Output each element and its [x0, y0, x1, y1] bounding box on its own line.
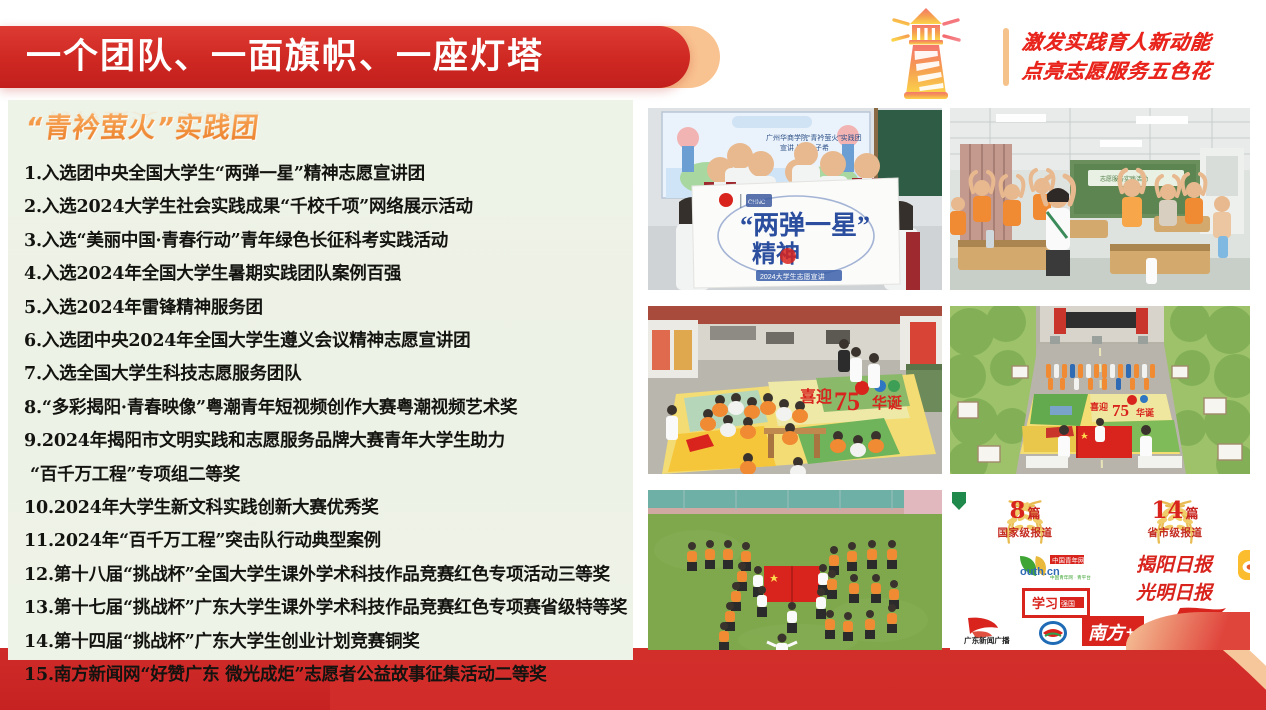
panel-title-wrap: “青衿萤火”实践团 “青衿萤火”实践团	[8, 100, 633, 158]
svg-text:学习: 学习	[1032, 596, 1058, 611]
logo-youth-cn: 中国青年网 outh.cn 中国青年网 · 青平台	[1016, 552, 1112, 582]
achievements-panel: “青衿萤火”实践团 “青衿萤火”实践团 1.入选团中央全国大学生“两弹一星”精神…	[8, 100, 633, 660]
svg-text:南方: 南方	[1088, 623, 1127, 643]
list-item-continuation: “百千万工程”专项组二等奖	[8, 459, 633, 492]
list-item: 15.南方新闻网“好赞广东 微光成炬”志愿者公益故事征集活动二等奖	[8, 659, 633, 692]
photo-banner-group[interactable]: 广州华商学院“青衿萤火”实践团 宣讲人：朱子希	[648, 108, 942, 290]
logo-weibo	[1238, 550, 1250, 580]
svg-text:华诞: 华诞	[872, 394, 903, 412]
logo-university	[1038, 620, 1068, 646]
badge-national-coverage: 8篇 国家级报道	[950, 495, 1100, 545]
list-item: 4.入选2024年全国大学生暑期实践团队案例百强	[8, 258, 633, 291]
badge-text: 14篇 省市级报道	[1148, 500, 1203, 540]
svg-text:广州华商学院“青衿萤火”实践团: 广州华商学院“青衿萤火”实践团	[766, 133, 862, 142]
photo-grid: 广州华商学院“青衿萤火”实践团 宣讲人：朱子希	[648, 108, 1256, 660]
logo-jieyang-daily: 揭阳日报	[1120, 550, 1228, 576]
svg-text:“两弹一星”: “两弹一星”	[740, 211, 870, 240]
svg-text:中国青年网 · 青平台: 中国青年网 · 青平台	[1050, 574, 1091, 581]
logo-xuexi-qiangguo: 学习 强国	[1022, 588, 1090, 618]
list-item: 10.2024年大学生新文科实践创新大赛优秀奖	[8, 492, 633, 525]
photo-field-formation[interactable]	[648, 490, 942, 650]
page-title: 一个团队、一面旗帜、一座灯塔	[26, 26, 544, 88]
slogan-line-2: 点亮志愿服务五色花	[1020, 57, 1253, 86]
svg-text:2024大学生志愿宣讲: 2024大学生志愿宣讲	[760, 272, 825, 281]
list-item: 13.第十七届“挑战杯”广东大学生课外学术科技作品竞赛红色专项赛省级特等奖	[8, 592, 633, 625]
photo-classroom-activity[interactable]: 志愿服务实践活动	[950, 108, 1250, 290]
badge-label: 省市级报道	[1148, 525, 1203, 540]
badge-number: 8篇	[998, 500, 1053, 525]
header-divider	[1003, 28, 1009, 86]
photo-mural-painting[interactable]: 喜迎 75 华诞	[648, 306, 942, 474]
panel-title: “青衿萤火”实践团	[24, 106, 262, 145]
svg-text:华诞: 华诞	[1136, 407, 1155, 418]
list-item: 7.入选全国大学生科技志愿服务团队	[8, 358, 633, 391]
svg-text:喜迎: 喜迎	[800, 387, 832, 406]
svg-text:75: 75	[1112, 401, 1129, 420]
media-coverage-panel: 8篇 国家级报道 14篇 省市级报道	[950, 490, 1250, 650]
badge-number: 14篇	[1148, 500, 1203, 525]
list-item: 12.第十八届“挑战杯”全国大学生课外学术科技作品竞赛红色专项活动三等奖	[8, 559, 633, 592]
list-item: 9.2024年揭阳市文明实践和志愿服务品牌大赛青年大学生助力	[8, 425, 633, 458]
logo-guangming-daily: 光明日报	[1118, 578, 1230, 604]
badge-text: 8篇 国家级报道	[998, 500, 1053, 540]
list-item: 14.第十四届“挑战杯”广东大学生创业计划竞赛铜奖	[8, 626, 633, 659]
list-item: 1.入选团中央全国大学生“两弹一星”精神志愿宣讲团	[8, 158, 633, 191]
svg-text:强国: 强国	[1061, 600, 1075, 608]
achievements-list: 1.入选团中央全国大学生“两弹一星”精神志愿宣讲团 2.入选2024大学生社会实…	[8, 158, 633, 693]
svg-text:志愿服务实践活动: 志愿服务实践活动	[1100, 175, 1148, 183]
svg-text:中国青年网: 中国青年网	[1052, 556, 1085, 565]
slogan-line-1: 激发实践育人新动能	[1020, 28, 1253, 57]
list-item: 5.入选2024年雷锋精神服务团	[8, 292, 633, 325]
lighthouse-icon	[866, 4, 986, 102]
list-item: 3.入选“美丽中国·青春行动”青年绿色长征科考实践活动	[8, 225, 633, 258]
logo-guangdong-news-radio: 广东新闻广播	[962, 614, 1032, 646]
header-slogan: 激发实践育人新动能 点亮志愿服务五色花	[1022, 26, 1252, 88]
badge-provincial-coverage: 14篇 省市级报道	[1100, 495, 1250, 545]
badge-label: 国家级报道	[998, 525, 1053, 540]
photo-mural-aerial[interactable]: 喜迎 75 华诞	[950, 306, 1250, 474]
list-item: 11.2024年“百千万工程”突击队行动典型案例	[8, 525, 633, 558]
slide-canvas: 一个团队、一面旗帜、一座灯塔	[0, 0, 1266, 710]
svg-text:广东新闻广播: 广东新闻广播	[964, 635, 1010, 645]
media-panel-inner: 8篇 国家级报道 14篇 省市级报道	[950, 490, 1250, 650]
list-item: 2.入选2024大学生社会实践成果“千校千项”网络展示活动	[8, 191, 633, 224]
coverage-badges: 8篇 国家级报道 14篇 省市级报道	[950, 494, 1250, 546]
svg-text:喜迎: 喜迎	[1090, 401, 1108, 412]
list-item: 6.入选团中央2024年全国大学生遵义会议精神志愿宣讲团	[8, 325, 633, 358]
slide-header: 一个团队、一面旗帜、一座灯塔	[0, 0, 1266, 100]
list-item: 8.“多彩揭阳·青春映像”粤潮青年短视频创作大赛粤潮视频艺术奖	[8, 392, 633, 425]
